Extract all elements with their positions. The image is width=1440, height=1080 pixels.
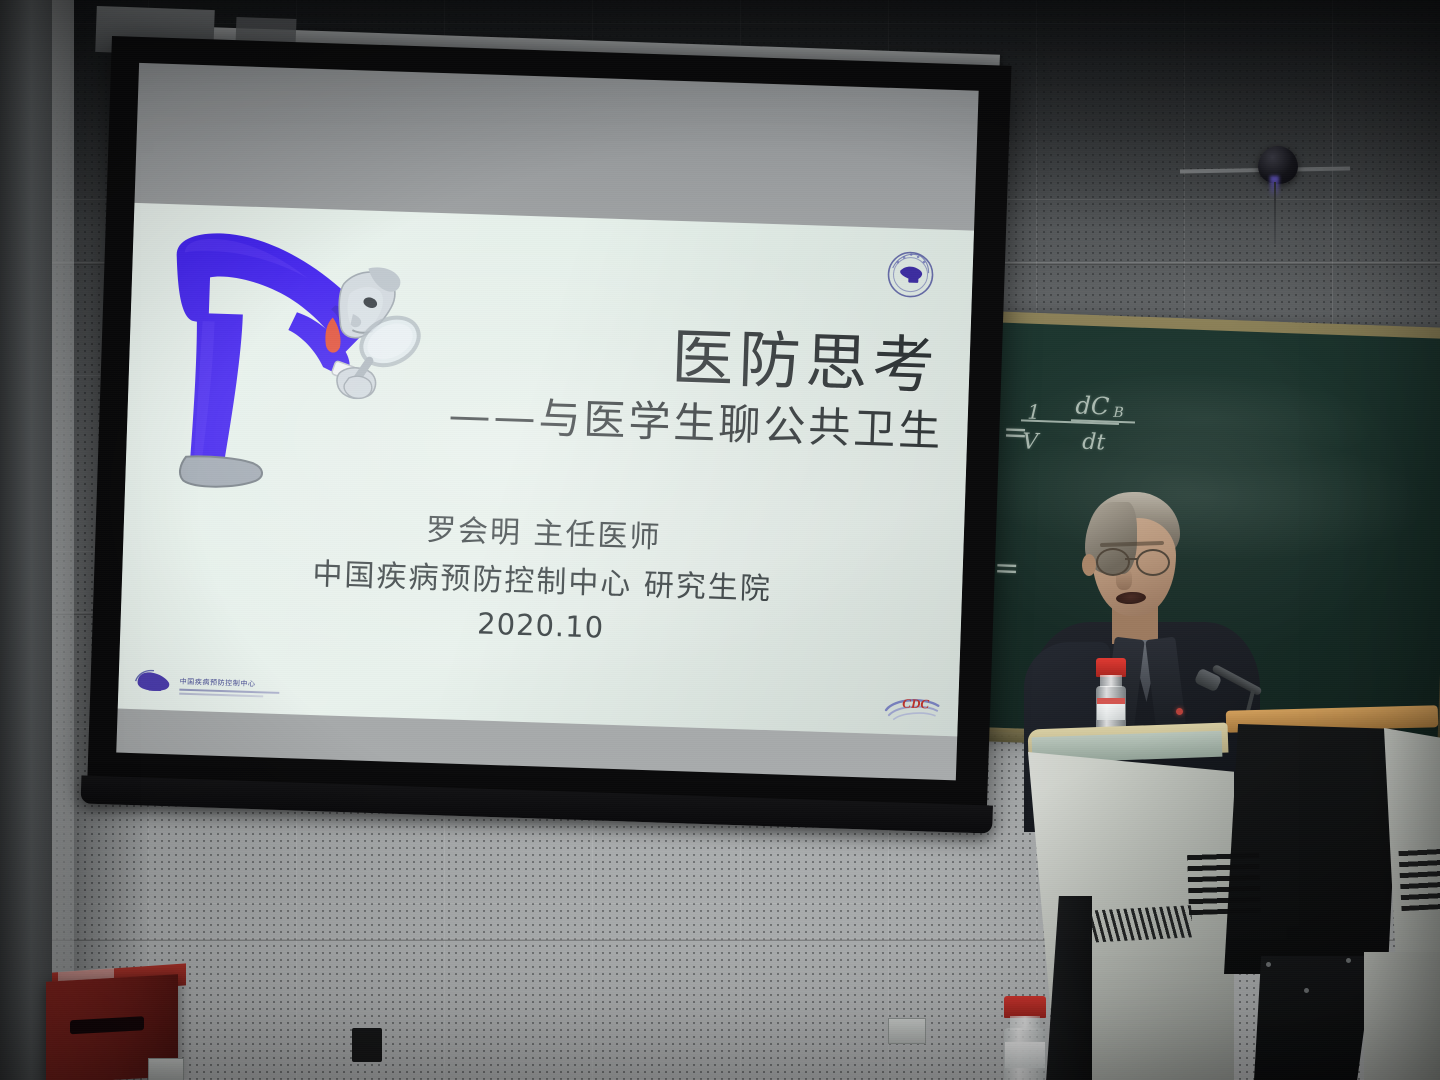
lecture-hall-scene: v = 1VdCBdtv = CBt↑ (0, 0, 1440, 1080)
photo-vignette (0, 0, 1440, 1080)
